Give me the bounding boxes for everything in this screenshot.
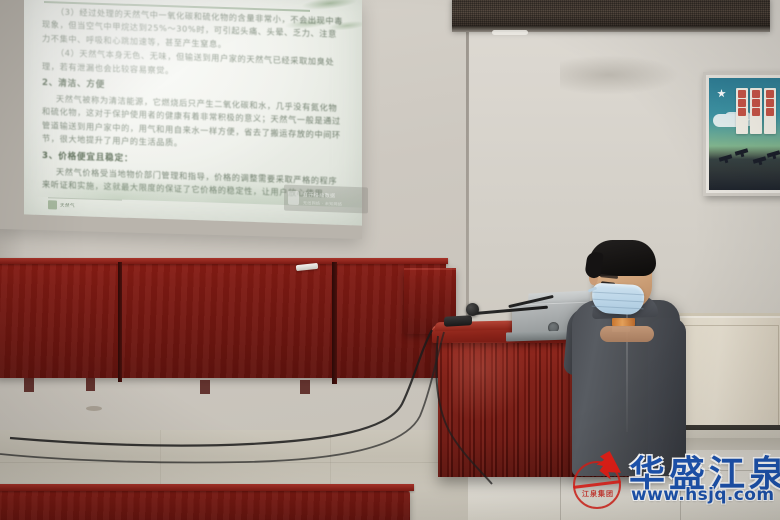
mask-pleat bbox=[592, 306, 644, 310]
star-icon bbox=[717, 89, 726, 98]
mask-pleat bbox=[592, 299, 644, 303]
wall-poster-frame bbox=[703, 72, 780, 196]
desk-row-back-top bbox=[0, 258, 448, 264]
osd-line-2: 无线网络 · 未知网络 bbox=[303, 200, 342, 207]
presenter-hands bbox=[600, 326, 654, 342]
poster-banner-group bbox=[736, 88, 776, 134]
presenter-company-badge bbox=[612, 318, 635, 326]
window-blind bbox=[452, 0, 770, 29]
desk-row-front bbox=[0, 488, 410, 520]
poster-banner bbox=[750, 88, 762, 134]
room-door[interactable] bbox=[672, 313, 780, 436]
photo-canvas: 天然气的特性 （3）经过处理的天然气中一氧化碳和硫化物的含量非常小，不会出现中毒… bbox=[0, 0, 780, 520]
signal-icon bbox=[288, 191, 299, 205]
microphone-capsule-icon bbox=[466, 303, 479, 316]
slide-footer-logo: 天然气 bbox=[48, 197, 122, 213]
floor-outlet-plate bbox=[86, 406, 102, 411]
desk-row-front-top bbox=[0, 484, 414, 491]
desk-leg bbox=[300, 380, 310, 394]
wall-poster bbox=[709, 78, 780, 190]
desk-row-back bbox=[0, 262, 446, 378]
wall-smudge bbox=[560, 55, 680, 95]
desk-leg bbox=[24, 378, 34, 392]
mask-pleat bbox=[592, 292, 644, 296]
face-mask-icon bbox=[591, 283, 644, 316]
slide-footer-logo-label: 天然气 bbox=[60, 202, 75, 208]
presenter-right-arm bbox=[648, 318, 686, 468]
gas-company-icon bbox=[48, 200, 57, 209]
floor-tile-seam bbox=[0, 462, 468, 463]
projector-osd-notification: 打开移动数据 无线网络 · 未知网络 bbox=[284, 185, 368, 214]
poster-banner bbox=[764, 88, 776, 134]
desk-divider bbox=[332, 262, 337, 384]
microphone-base bbox=[444, 315, 472, 326]
poster-banner bbox=[736, 88, 748, 134]
osd-text: 打开移动数据 无线网络 · 未知网络 bbox=[303, 191, 342, 207]
desk-leg bbox=[200, 380, 210, 394]
desk-divider bbox=[118, 262, 122, 382]
desk-leg bbox=[86, 378, 95, 391]
door-panel-inset bbox=[683, 325, 779, 432]
blind-pull-handle bbox=[492, 30, 528, 35]
osd-line-1: 打开移动数据 bbox=[303, 191, 342, 199]
